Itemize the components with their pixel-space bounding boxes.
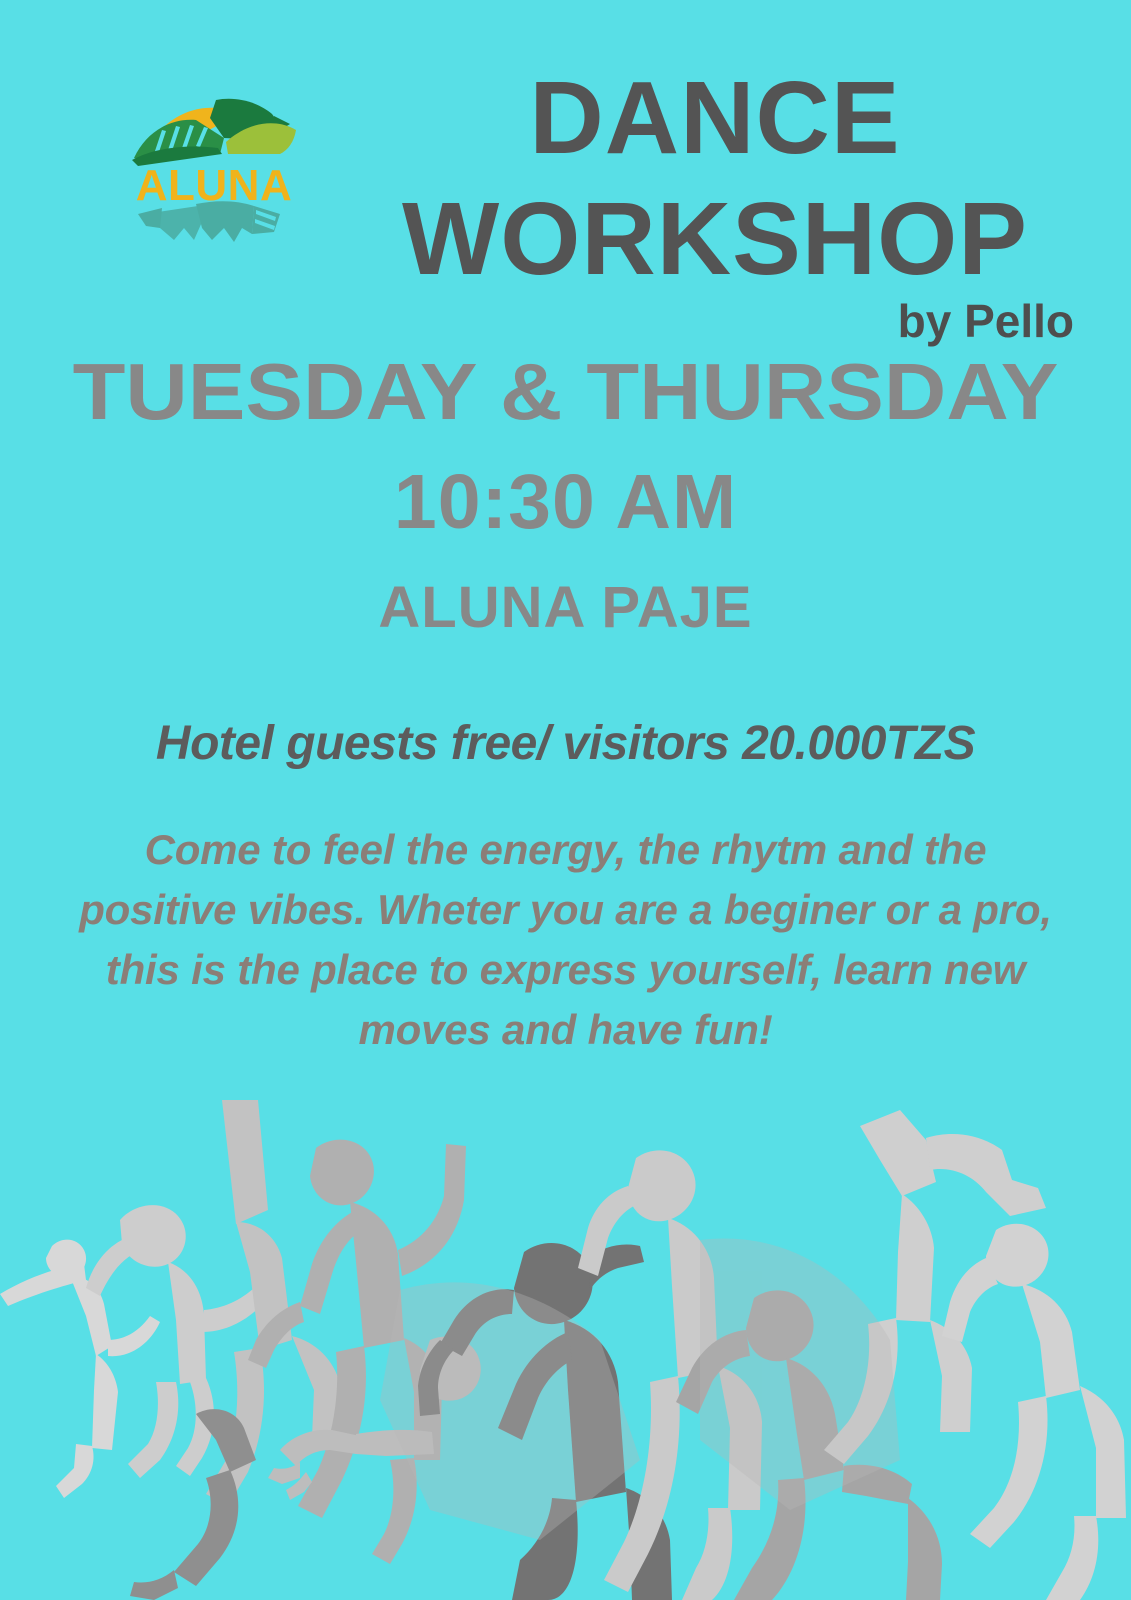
schedule-days: TUESDAY & THURSDAY [0,352,1131,432]
schedule-time: 10:30 AM [0,464,1131,541]
dancer-silhouettes [0,1040,1131,1600]
schedule-venue: ALUNA PAJE [0,579,1131,637]
dancer-silhouettes-artwork [0,1040,1131,1600]
pricing-line: Hotel guests free/ visitors 20.000TZS [0,716,1131,771]
poster-title: DANCE WORKSHOP by Pello [330,68,1100,348]
aluna-logo: ALUNA [124,78,304,258]
schedule-block: TUESDAY & THURSDAY 10:30 AM ALUNA PAJE [0,352,1131,637]
aluna-logo-icon: ALUNA [124,78,304,258]
title-line-workshop: WORKSHOP [330,189,1100,290]
description-line-3: this is the place to express yourself, l… [18,940,1113,1000]
description-line-2: positive vibes. Wheter you are a beginer… [18,880,1113,940]
title-byline: by Pello [330,294,1100,348]
title-line-dance: DANCE [330,68,1100,169]
poster-canvas: ALUNA DANCE WORKSHOP by Pello TUESDAY & … [0,0,1131,1600]
description-line-1: Come to feel the energy, the rhytm and t… [18,820,1113,880]
description-block: Come to feel the energy, the rhytm and t… [18,820,1113,1060]
